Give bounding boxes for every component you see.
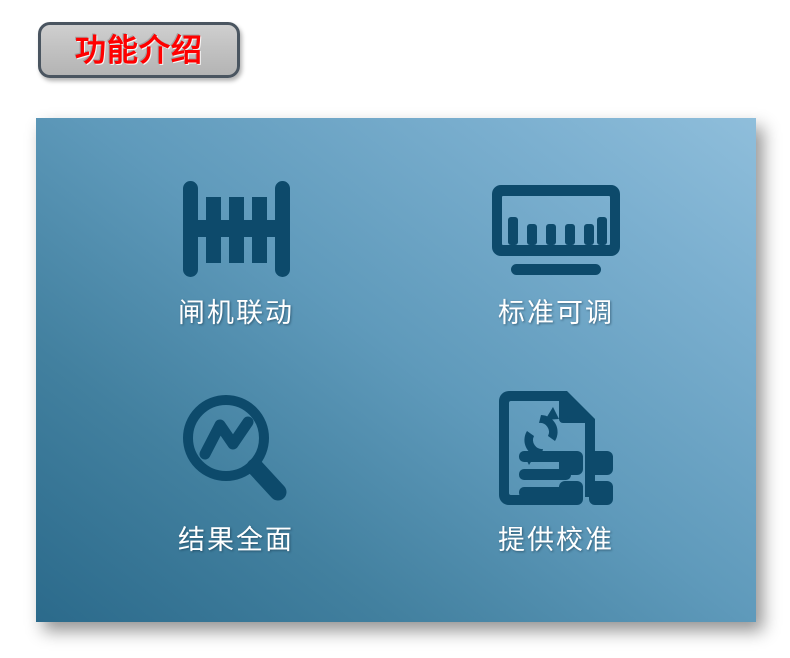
ruler-scale-icon (489, 166, 624, 291)
feature-panel: 闸机联动 (36, 118, 756, 622)
turnstile-gate-icon (169, 166, 304, 291)
feature-label-standard: 标准可调 (498, 299, 614, 329)
page-root: 功能介绍 (0, 0, 790, 658)
feature-item-calibration[interactable]: 提供校准 (396, 375, 716, 588)
section-title-badge: 功能介绍 (38, 22, 240, 78)
feature-label-calibration: 提供校准 (498, 526, 614, 556)
feature-grid: 闸机联动 (36, 118, 756, 622)
feature-item-gate[interactable]: 闸机联动 (76, 162, 396, 375)
magnifier-chart-icon (169, 385, 304, 510)
feature-label-results: 结果全面 (178, 526, 294, 556)
feature-label-gate: 闸机联动 (178, 299, 294, 329)
section-title-text: 功能介绍 (75, 35, 203, 66)
feature-item-results[interactable]: 结果全面 (76, 375, 396, 588)
document-refresh-grid-icon (489, 385, 624, 510)
feature-item-standard[interactable]: 标准可调 (396, 162, 716, 375)
